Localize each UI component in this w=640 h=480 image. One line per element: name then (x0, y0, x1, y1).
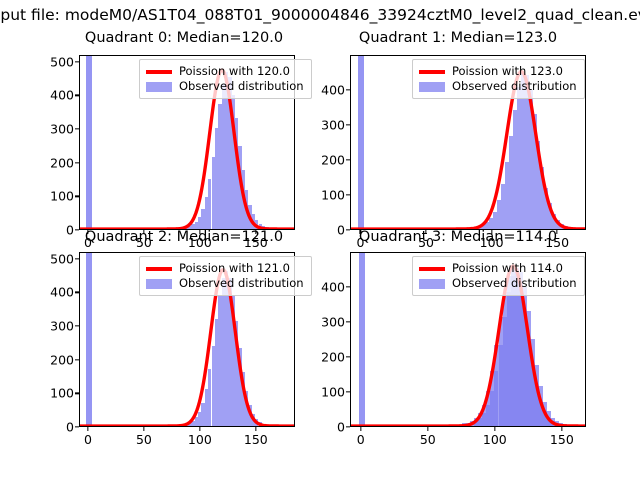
x-tick-mark (143, 427, 144, 431)
y-tick-label: 500 (50, 251, 74, 266)
legend-2[interactable]: Poission with 121.0Observed distribution (139, 256, 312, 296)
legend-label-observed: Observed distribution (452, 276, 577, 291)
legend-entry-observed: Observed distribution (146, 79, 304, 94)
y-tick-label: 300 (50, 319, 74, 334)
line-swatch-icon (419, 70, 445, 74)
y-tick-mark (75, 196, 79, 197)
legend-entry-poisson: Poission with 120.0 (146, 64, 304, 79)
x-tick-label: 150 (244, 432, 268, 447)
y-tick-label: 200 (50, 155, 74, 170)
x-tick-label: 50 (136, 432, 152, 447)
y-tick-label: 400 (50, 88, 74, 103)
y-tick-label: 400 (321, 83, 345, 98)
x-tick-label: 0 (357, 432, 365, 447)
patch-swatch-icon (419, 279, 445, 289)
x-tick-mark (427, 427, 428, 431)
y-tick-label: 0 (66, 420, 74, 435)
y-tick-label: 200 (321, 350, 345, 365)
y-tick-mark (346, 391, 350, 392)
legend-entry-poisson: Poission with 121.0 (146, 261, 304, 276)
x-tick-label: 50 (420, 432, 436, 447)
legend-label-poisson: Poission with 123.0 (452, 64, 563, 79)
y-tick-label: 200 (50, 352, 74, 367)
y-tick-label: 100 (50, 189, 74, 204)
x-tick-mark (561, 427, 562, 431)
line-swatch-icon (146, 267, 172, 271)
legend-label-poisson: Poission with 120.0 (179, 64, 290, 79)
subplot-title-3: Quadrant 3: Median=114.0 (288, 228, 628, 246)
y-tick-label: 300 (321, 118, 345, 133)
y-tick-label: 300 (321, 315, 345, 330)
y-tick-mark (346, 426, 350, 427)
x-tick-label: 100 (188, 432, 212, 447)
legend-0[interactable]: Poission with 120.0Observed distribution (139, 59, 312, 99)
legend-entry-observed: Observed distribution (419, 79, 577, 94)
x-tick-mark (494, 427, 495, 431)
line-swatch-icon (419, 267, 445, 271)
y-tick-mark (75, 292, 79, 293)
subplot-axes-2: 0100200300400500050100150Poission with 1… (79, 252, 295, 427)
patch-swatch-icon (146, 279, 172, 289)
y-tick-mark (75, 359, 79, 360)
legend-label-observed: Observed distribution (179, 79, 304, 94)
legend-label-poisson: Poission with 114.0 (452, 261, 563, 276)
y-tick-mark (75, 95, 79, 96)
subplot-axes-1: 0100200300400050100150Poission with 123.… (350, 55, 586, 230)
y-tick-label: 400 (321, 280, 345, 295)
legend-entry-observed: Observed distribution (146, 276, 304, 291)
y-tick-mark (75, 393, 79, 394)
y-tick-mark (346, 194, 350, 195)
y-tick-mark (346, 124, 350, 125)
y-tick-mark (75, 61, 79, 62)
y-tick-label: 500 (50, 54, 74, 69)
matplotlib-figure: Input file: modeM0/AS1T04_088T01_9000004… (0, 0, 640, 480)
y-tick-mark (75, 162, 79, 163)
y-tick-label: 100 (321, 188, 345, 203)
x-tick-mark (360, 427, 361, 431)
x-tick-mark (255, 427, 256, 431)
y-tick-mark (346, 356, 350, 357)
subplot-axes-3: 0100200300400050100150Poission with 114.… (350, 252, 586, 427)
x-tick-label: 100 (483, 432, 507, 447)
legend-entry-observed: Observed distribution (419, 276, 577, 291)
y-tick-mark (75, 426, 79, 427)
legend-1[interactable]: Poission with 123.0Observed distribution (412, 59, 585, 99)
y-tick-label: 0 (337, 420, 345, 435)
y-tick-mark (75, 258, 79, 259)
y-tick-label: 100 (321, 385, 345, 400)
legend-3[interactable]: Poission with 114.0Observed distribution (412, 256, 585, 296)
y-tick-mark (75, 128, 79, 129)
patch-swatch-icon (146, 82, 172, 92)
y-tick-mark (346, 286, 350, 287)
y-tick-label: 200 (321, 153, 345, 168)
line-swatch-icon (146, 70, 172, 74)
figure-suptitle: Input file: modeM0/AS1T04_088T01_9000004… (0, 4, 640, 26)
legend-label-observed: Observed distribution (179, 276, 304, 291)
legend-entry-poisson: Poission with 123.0 (419, 64, 577, 79)
y-tick-label: 300 (50, 122, 74, 137)
y-tick-label: 400 (50, 285, 74, 300)
patch-swatch-icon (419, 82, 445, 92)
y-tick-label: 100 (50, 386, 74, 401)
subplot-title-1: Quadrant 1: Median=123.0 (288, 29, 628, 47)
x-tick-mark (87, 427, 88, 431)
subplot-axes-0: 0100200300400500050100150Poission with 1… (79, 55, 295, 230)
legend-entry-poisson: Poission with 114.0 (419, 261, 577, 276)
x-tick-label: 150 (550, 432, 574, 447)
x-tick-mark (199, 427, 200, 431)
legend-label-poisson: Poission with 121.0 (179, 261, 290, 276)
x-tick-label: 0 (84, 432, 92, 447)
y-tick-mark (75, 325, 79, 326)
y-tick-mark (346, 321, 350, 322)
y-tick-mark (346, 159, 350, 160)
legend-label-observed: Observed distribution (452, 79, 577, 94)
y-tick-mark (346, 89, 350, 90)
